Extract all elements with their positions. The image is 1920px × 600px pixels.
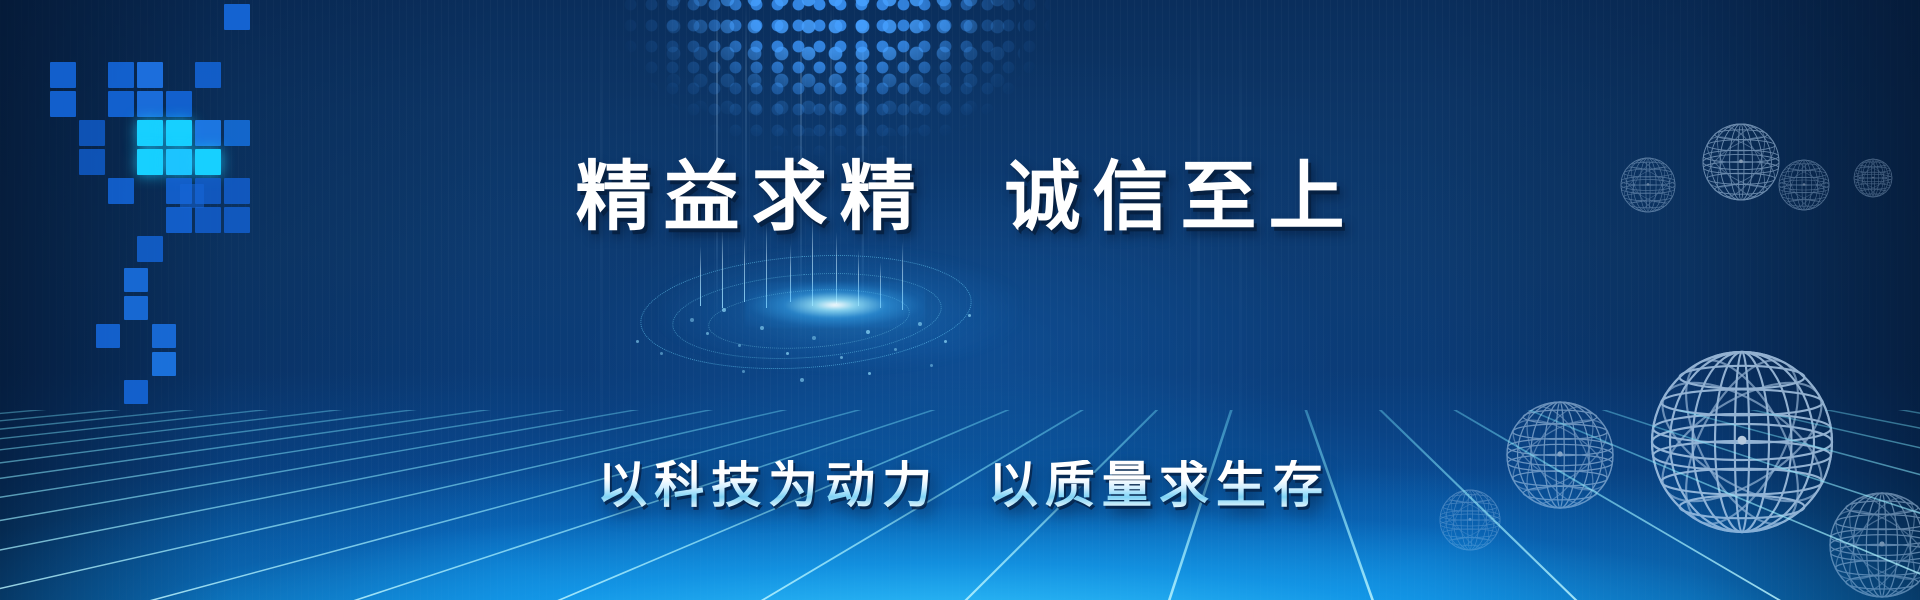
pixel-mosaic-top-cell-3 xyxy=(137,62,163,88)
subheadline-container: 以科技为动力 以质量求生存 xyxy=(0,418,1920,551)
pixel-mosaic-bottom-cell-3 xyxy=(152,324,176,348)
pixel-mosaic-top-cell-1 xyxy=(50,62,76,88)
banner-headline: 精益求精 诚信至上 xyxy=(564,159,1357,235)
banner-subheadline: 以科技为动力 以质量求生存 xyxy=(590,460,1330,510)
pixel-mosaic-bottom-cell-4 xyxy=(152,352,176,376)
pixel-mosaic-top-cell-4 xyxy=(195,62,221,88)
pixel-mosaic-top-cell-0 xyxy=(224,4,250,30)
hero-banner: 精益求精 诚信至上 以科技为动力 以质量求生存 xyxy=(0,0,1920,600)
pixel-mosaic-bottom-cell-5 xyxy=(124,380,148,404)
pixel-mosaic-bottom-cell-2 xyxy=(96,324,120,348)
light-core-burst xyxy=(745,282,925,328)
pixel-mosaic-top-cell-2 xyxy=(108,62,134,88)
pixel-mosaic-bottom-cell-1 xyxy=(124,296,148,320)
headline-container: 精益求精 诚信至上 xyxy=(0,108,1920,286)
